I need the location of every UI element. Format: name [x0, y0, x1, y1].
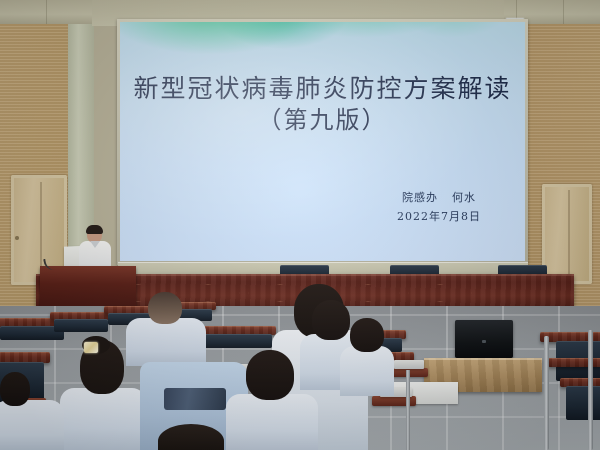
person-head	[148, 292, 182, 324]
slide-date: 2022年7月8日	[397, 208, 481, 227]
slide-presenter: 何水	[452, 191, 476, 204]
person-head	[246, 350, 294, 400]
speaker-logo	[482, 340, 486, 343]
garment-print	[164, 388, 226, 410]
presentation-slide: 新型冠状病毒肺炎防控方案解读 （第九版） 院感办何水 2022年7月8日	[120, 22, 525, 261]
door-seam	[40, 182, 42, 279]
door-knob[interactable]	[15, 236, 19, 240]
slide-title-line1: 新型冠状病毒肺炎防控方案解读	[133, 74, 511, 103]
photo-scene: 新型冠状病毒肺炎防控方案解读 （第九版） 院感办何水 2022年7月8日	[0, 0, 600, 450]
seat-post	[544, 336, 549, 450]
slide-presenter-line: 院感办何水	[397, 189, 481, 208]
presenter-person	[78, 226, 112, 270]
door-seam	[568, 190, 570, 278]
speaker	[455, 320, 513, 358]
audience-person	[340, 318, 394, 396]
presenter-hair	[86, 225, 103, 234]
slide-department: 院感办	[402, 191, 438, 204]
seat-post	[588, 330, 593, 450]
seat-cushion	[200, 334, 272, 348]
door-right[interactable]	[542, 184, 592, 284]
person-torso	[0, 400, 64, 450]
seat-cushion	[566, 386, 600, 420]
person-head	[158, 424, 224, 450]
seat-cushion	[54, 319, 108, 332]
person-torso	[226, 394, 318, 450]
person-head	[0, 372, 30, 406]
person-torso	[60, 388, 146, 450]
lectern	[40, 266, 136, 310]
writing-tablet	[394, 360, 424, 369]
person-torso	[340, 346, 394, 396]
slide-title-line2: （第九版）	[120, 106, 525, 136]
slide-title: 新型冠状病毒肺炎防控方案解读 （第九版）	[120, 73, 525, 136]
slide-meta: 院感办何水 2022年7月8日	[397, 189, 481, 226]
audience-person	[158, 424, 224, 450]
audience-person	[0, 372, 64, 450]
person-head	[350, 318, 384, 352]
panel-detail	[408, 284, 472, 302]
projection-screen-frame: 新型冠状病毒肺炎防控方案解读 （第九版） 院感办何水 2022年7月8日	[117, 19, 528, 265]
audience-person	[60, 336, 146, 450]
seat-post	[406, 370, 410, 450]
hair-clip-icon	[84, 342, 98, 353]
